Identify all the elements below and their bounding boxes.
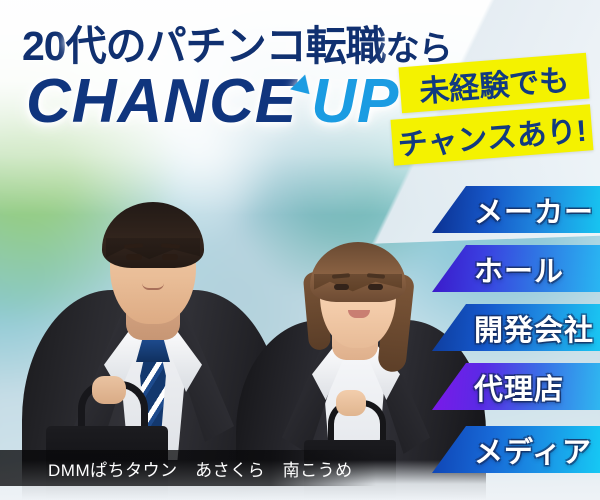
category-label-media: メディア <box>474 429 592 471</box>
male-eye-right <box>162 254 178 260</box>
logo-chance-up: CHANCEUP <box>26 66 399 137</box>
category-label-maker: メーカー <box>474 189 594 231</box>
female-hand <box>336 390 366 416</box>
headline-body: 代のパチンコ転職 <box>66 23 386 69</box>
logo-chance-text: CHANCE <box>26 67 297 136</box>
male-eye-left <box>126 254 142 260</box>
male-hand <box>92 376 126 404</box>
male-hair <box>102 202 204 268</box>
recruitment-banner[interactable]: 20代のパチンコ転職なら CHANCEUP 未経験でも チャンスあり! メーカー… <box>0 0 600 500</box>
credit-caption-bar: DMMぱちタウン あさくら 南こうめ <box>0 450 376 486</box>
credit-caption-text: DMMぱちタウン あさくら 南こうめ <box>48 456 353 481</box>
logo-up-text: UP <box>311 67 399 136</box>
category-label-hall: ホール <box>474 248 564 290</box>
female-hair <box>310 242 406 302</box>
male-mouth <box>142 283 164 290</box>
female-eye-left <box>334 284 349 290</box>
category-label-developer: 開発会社 <box>474 307 594 349</box>
headline-number: 20 <box>22 23 66 69</box>
headline-tail: なら <box>386 30 452 68</box>
female-eye-right <box>368 284 383 290</box>
headline-primary: 20代のパチンコ転職なら <box>22 12 452 72</box>
category-label-agency: 代理店 <box>474 366 564 408</box>
